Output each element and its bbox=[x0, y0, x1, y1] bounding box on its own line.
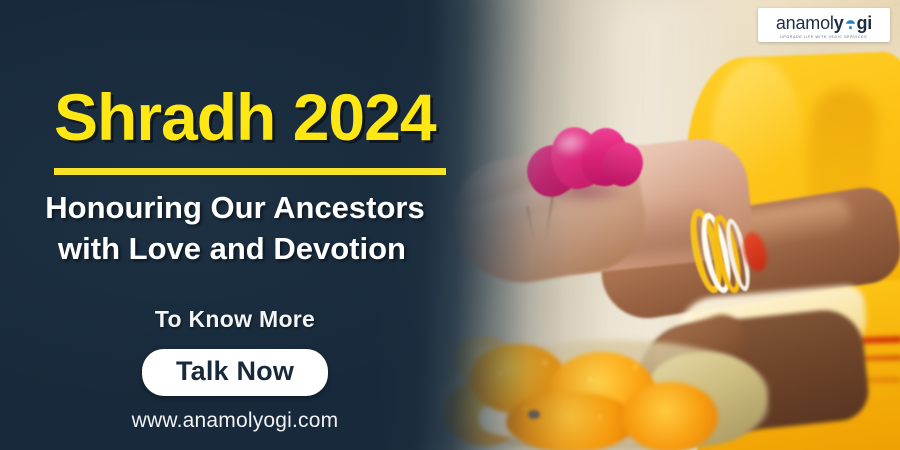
anamolyogi-logo[interactable]: anamol y gi UPGRADE LIFE WITH VEDIC SERV… bbox=[758, 8, 890, 42]
subtitle-line-1: Honouring Our Ancestors bbox=[0, 188, 470, 229]
logo-text-gi: gi bbox=[857, 14, 873, 32]
logo-smile-icon bbox=[845, 15, 856, 26]
logo-text-y: y bbox=[834, 14, 844, 32]
logo-text-anamol: anamol bbox=[776, 14, 834, 32]
know-more-label: To Know More bbox=[0, 306, 470, 333]
talk-now-button[interactable]: Talk Now bbox=[142, 349, 328, 396]
website-url[interactable]: www.anamolyogi.com bbox=[0, 409, 470, 433]
banner-title: Shradh 2024 bbox=[54, 84, 436, 150]
banner-text-content: Shradh 2024 Honouring Our Ancestors with… bbox=[0, 0, 470, 450]
title-underline-rule bbox=[54, 168, 446, 175]
subtitle-line-2: with Love and Devotion bbox=[0, 229, 470, 270]
cta-container: Talk Now bbox=[0, 349, 470, 396]
logo-tagline: UPGRADE LIFE WITH VEDIC SERVICES bbox=[781, 34, 868, 38]
logo-wordmark: anamol y gi bbox=[776, 14, 872, 32]
banner-subtitle: Honouring Our Ancestors with Love and De… bbox=[0, 188, 470, 270]
shradh-promotional-banner: Shradh 2024 Honouring Our Ancestors with… bbox=[0, 0, 900, 450]
